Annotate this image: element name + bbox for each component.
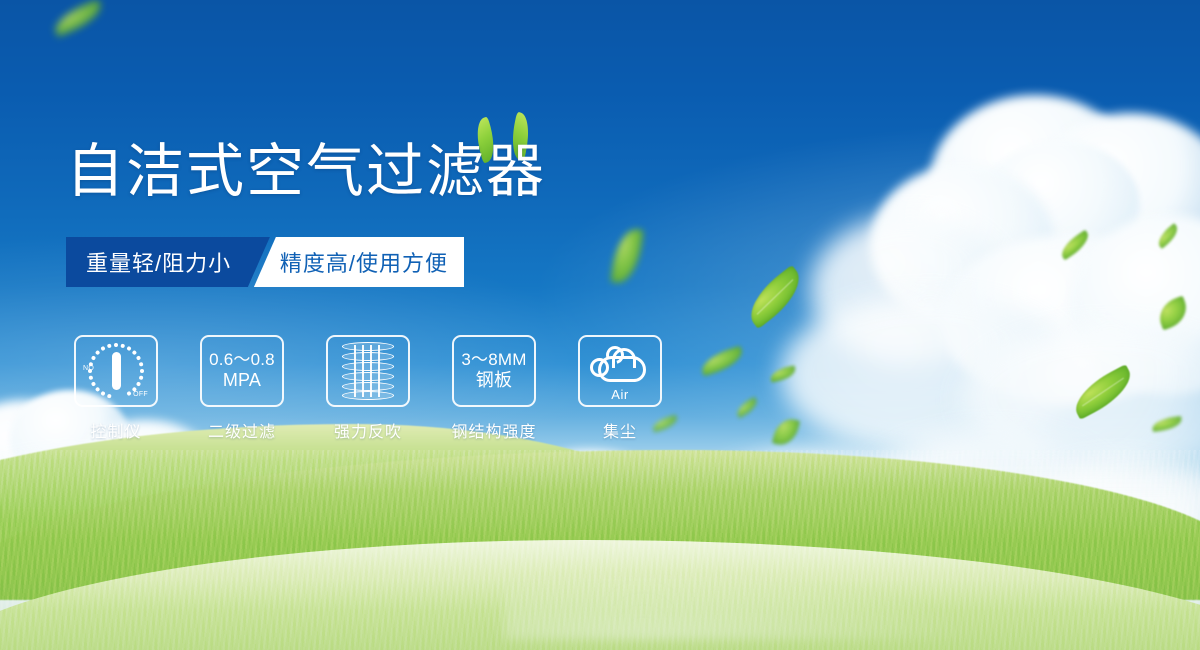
feature-item-pressure[interactable]: 0.6～0.8 MPA 二级过滤 bbox=[192, 335, 292, 442]
page-title: 自洁式空气过滤器 bbox=[66, 143, 546, 201]
feature-item-dust[interactable]: Air 集尘 bbox=[570, 335, 670, 442]
feature-icon-box: NO OFF bbox=[74, 335, 158, 407]
steel-material: 钢板 bbox=[461, 370, 526, 391]
air-cloud-icon: Air bbox=[588, 342, 652, 400]
air-label: Air bbox=[588, 387, 652, 402]
feature-icon-box bbox=[326, 335, 410, 407]
feature-caption: 钢结构强度 bbox=[451, 418, 536, 442]
dial-label-no: NO bbox=[83, 365, 94, 372]
dial-label-off: OFF bbox=[133, 391, 148, 398]
feature-caption: 强力反吹 bbox=[334, 418, 402, 442]
steel-plate-text-icon: 3～8MM 钢板 bbox=[461, 350, 526, 391]
feature-icon-box: Air bbox=[578, 335, 662, 407]
dial-needle bbox=[112, 352, 121, 390]
feature-list: NO OFF 控制仪 0.6～0.8 MPA 二级过滤 bbox=[66, 335, 670, 442]
subtitle-badge: 重量轻/阻力小 精度高/使用方便 bbox=[66, 237, 464, 287]
feature-icon-box: 3～8MM 钢板 bbox=[452, 335, 536, 407]
control-dial-icon: NO OFF bbox=[85, 341, 147, 401]
pressure-unit: MPA bbox=[209, 370, 275, 391]
subtitle-badge-left: 重量轻/阻力小 bbox=[66, 237, 270, 287]
filter-cartridge-icon bbox=[342, 342, 394, 400]
pressure-range: 0.6～0.8 bbox=[209, 350, 275, 369]
subtitle-left-text: 重量轻/阻力小 bbox=[86, 246, 231, 278]
feature-caption: 集尘 bbox=[603, 418, 637, 442]
feature-icon-box: 0.6～0.8 MPA bbox=[200, 335, 284, 407]
feature-item-steel[interactable]: 3～8MM 钢板 钢结构强度 bbox=[444, 335, 544, 442]
pressure-text-icon: 0.6～0.8 MPA bbox=[209, 350, 275, 391]
feature-caption: 二级过滤 bbox=[208, 418, 276, 442]
feature-item-blowback[interactable]: 强力反吹 bbox=[318, 335, 418, 442]
subtitle-right-text: 精度高/使用方便 bbox=[280, 246, 448, 278]
product-banner: 自洁式空气过滤器 重量轻/阻力小 精度高/使用方便 bbox=[0, 0, 1200, 650]
feature-item-control[interactable]: NO OFF 控制仪 bbox=[66, 335, 166, 442]
feature-caption: 控制仪 bbox=[90, 418, 141, 442]
steel-thickness: 3～8MM bbox=[461, 350, 526, 369]
cloud-body bbox=[598, 356, 646, 382]
subtitle-badge-right: 精度高/使用方便 bbox=[254, 237, 464, 287]
